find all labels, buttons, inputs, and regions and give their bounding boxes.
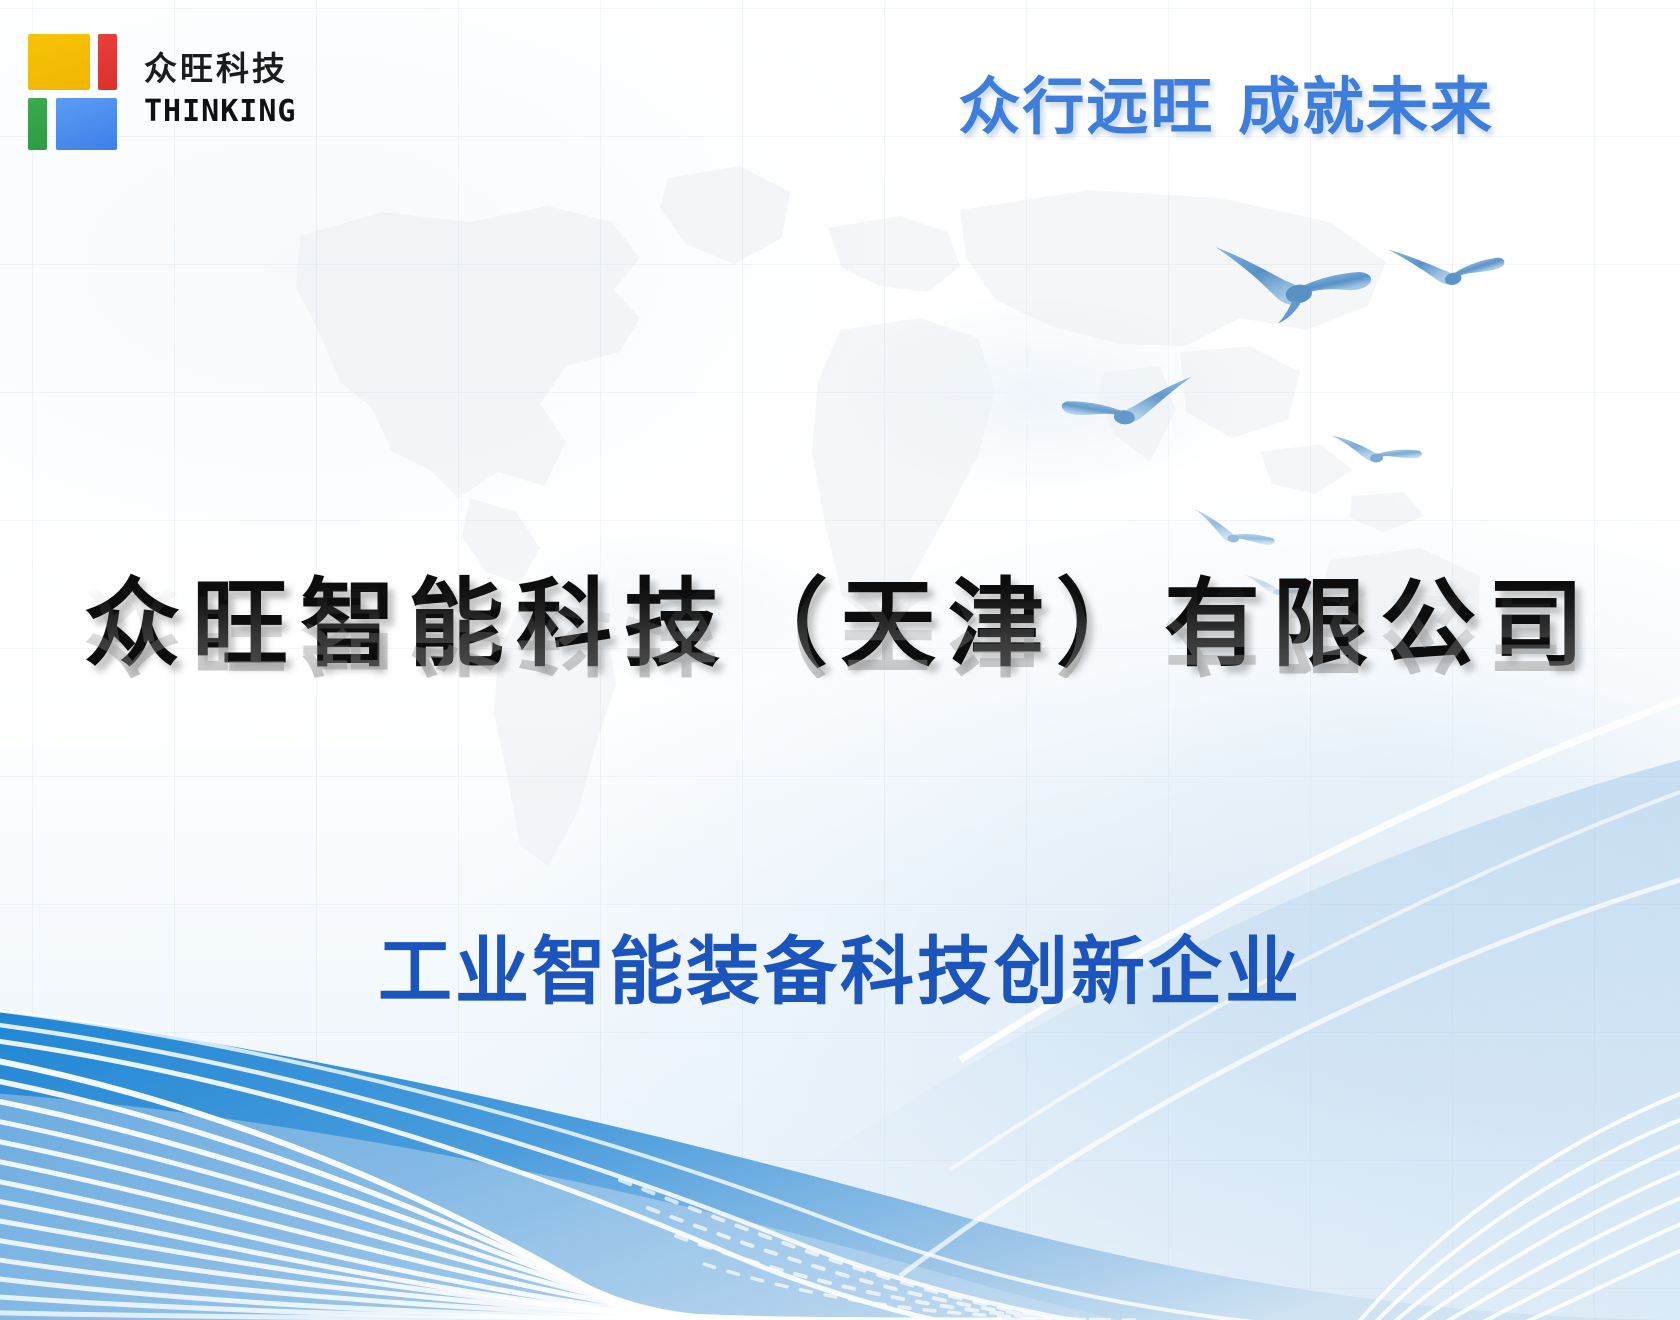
four-block-logo-icon xyxy=(28,30,126,148)
title-block: 众旺智能科技（天津）有限公司 众旺智能科技（天津）有限公司 xyxy=(0,574,1680,780)
presentation-slide: 众旺科技 THINKING 众行远旺 成就未来 众旺智能科技（天津）有限公司 众… xyxy=(0,0,1680,1320)
seagull-5-icon xyxy=(1184,496,1285,562)
seagull-4-icon xyxy=(1324,415,1427,480)
logo-wordmark: 众旺科技 THINKING xyxy=(144,52,297,127)
company-logo: 众旺科技 THINKING xyxy=(28,30,297,148)
red-block-icon xyxy=(98,34,117,90)
header-slogan: 众行远旺 成就未来 xyxy=(958,56,1494,146)
blue-block-icon xyxy=(56,98,117,150)
page-subtitle: 工业智能装备科技创新企业 xyxy=(0,912,1680,1019)
seagull-1-icon xyxy=(1208,217,1385,338)
yellow-block-icon xyxy=(28,34,90,90)
seagull-3-icon xyxy=(1052,353,1200,451)
seagull-2-icon xyxy=(1383,217,1517,316)
logo-company-en: THINKING xyxy=(144,97,297,127)
page-title-reflection: 众旺智能科技（天津）有限公司 xyxy=(0,576,1680,678)
green-block-icon xyxy=(28,98,47,150)
logo-company-cn: 众旺科技 xyxy=(144,52,297,85)
slide-header: 众旺科技 THINKING 众行远旺 成就未来 xyxy=(0,0,1680,190)
